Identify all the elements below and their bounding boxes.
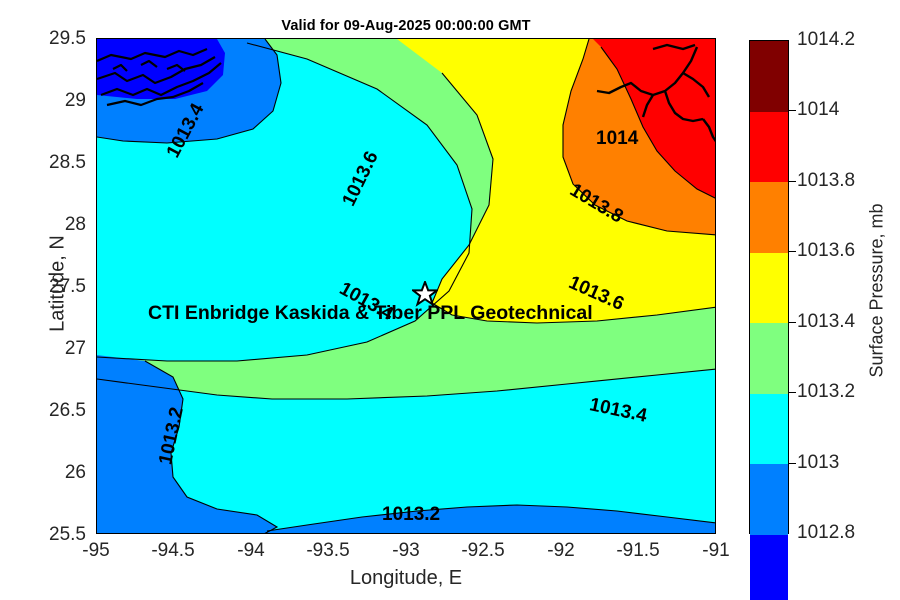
colorbar-tick: [789, 181, 796, 182]
colorbar-band-1013-4: [750, 323, 788, 394]
colorbar-label: 1013.6: [797, 240, 855, 262]
contour-label: 1014: [596, 128, 638, 150]
page-title: Valid for 09-Aug-2025 00:00:00 GMT: [96, 18, 716, 34]
y-tick-label: 29: [2, 90, 86, 112]
y-tick-label: 27.5: [2, 276, 86, 298]
colorbar-label: 1013.4: [797, 311, 855, 333]
colorbar-label: 1014: [797, 99, 839, 121]
colorbar-title: Surface Pressure, mb: [867, 141, 888, 441]
colorbar-band-1013-8: [750, 182, 788, 253]
x-tick-label: -91.5: [593, 540, 683, 562]
colorbar-band-1014-2: [750, 41, 788, 112]
colorbar[interactable]: [749, 40, 789, 534]
colorbar-tick: [789, 251, 796, 252]
colorbar-band-1013-2: [750, 394, 788, 465]
colorbar-label: 1013.2: [797, 381, 855, 403]
y-tick-label: 28.5: [2, 152, 86, 174]
colorbar-band-1012-8: [750, 535, 788, 600]
x-tick-label: -93.5: [283, 540, 373, 562]
y-tick-label: 28: [2, 214, 86, 236]
y-tick-label: 29.5: [2, 28, 86, 50]
colorbar-band-1014: [750, 112, 788, 183]
contour-label: 1013.2: [382, 504, 440, 526]
colorbar-tick: [789, 110, 796, 111]
y-axis-title: Latitude, N: [47, 134, 70, 434]
contour-plot-page: Valid for 09-Aug-2025 00:00:00 GMT: [0, 0, 900, 600]
colorbar-tick: [789, 392, 796, 393]
x-axis-title: Longitude, E: [96, 567, 716, 590]
colorbar-label: 1014.2: [797, 29, 855, 51]
colorbar-label: 1012.8: [797, 522, 855, 544]
y-tick-label: 27: [2, 338, 86, 360]
colorbar-label: 1013.8: [797, 170, 855, 192]
y-tick-label: 26: [2, 462, 86, 484]
x-tick-label: -91: [671, 540, 761, 562]
y-tick-label: 26.5: [2, 400, 86, 422]
colorbar-tick: [789, 463, 796, 464]
x-tick-label: -94.5: [128, 540, 218, 562]
colorbar-band-1013: [750, 464, 788, 535]
colorbar-band-1013-6: [750, 253, 788, 324]
x-tick-label: -92.5: [438, 540, 528, 562]
colorbar-label: 1013: [797, 452, 839, 474]
colorbar-tick: [789, 322, 796, 323]
